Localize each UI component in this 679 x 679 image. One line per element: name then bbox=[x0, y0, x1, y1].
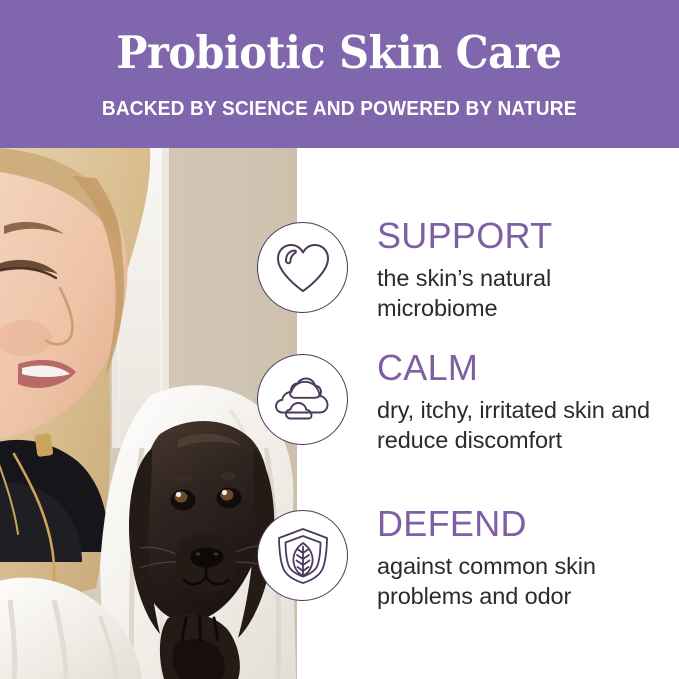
feature-body: dry, itchy, irritated skin and reduce di… bbox=[377, 395, 667, 455]
feature-title: SUPPORT bbox=[377, 218, 667, 254]
clouds-icon bbox=[257, 354, 348, 445]
heart-icon bbox=[257, 222, 348, 313]
feature-body: against common skin problems and odor bbox=[377, 551, 667, 611]
shield-leaf-icon bbox=[257, 510, 348, 601]
feature-body: the skin’s natural microbiome bbox=[377, 263, 667, 323]
feature-text-support: SUPPORT the skin’s natural microbiome bbox=[377, 218, 667, 323]
product-infographic: Probiotic Skin Care BACKED BY SCIENCE AN… bbox=[0, 0, 679, 679]
header-banner: Probiotic Skin Care BACKED BY SCIENCE AN… bbox=[0, 0, 679, 148]
feature-title: CALM bbox=[377, 350, 667, 386]
feature-title: DEFEND bbox=[377, 506, 667, 542]
page-subtitle: BACKED BY SCIENCE AND POWERED BY NATURE bbox=[102, 97, 577, 121]
page-title: Probiotic Skin Care bbox=[117, 30, 562, 75]
feature-list: SUPPORT the skin’s natural microbiome CA… bbox=[0, 148, 679, 679]
feature-text-defend: DEFEND against common skin problems and … bbox=[377, 506, 667, 611]
feature-text-calm: CALM dry, itchy, irritated skin and redu… bbox=[377, 350, 667, 455]
